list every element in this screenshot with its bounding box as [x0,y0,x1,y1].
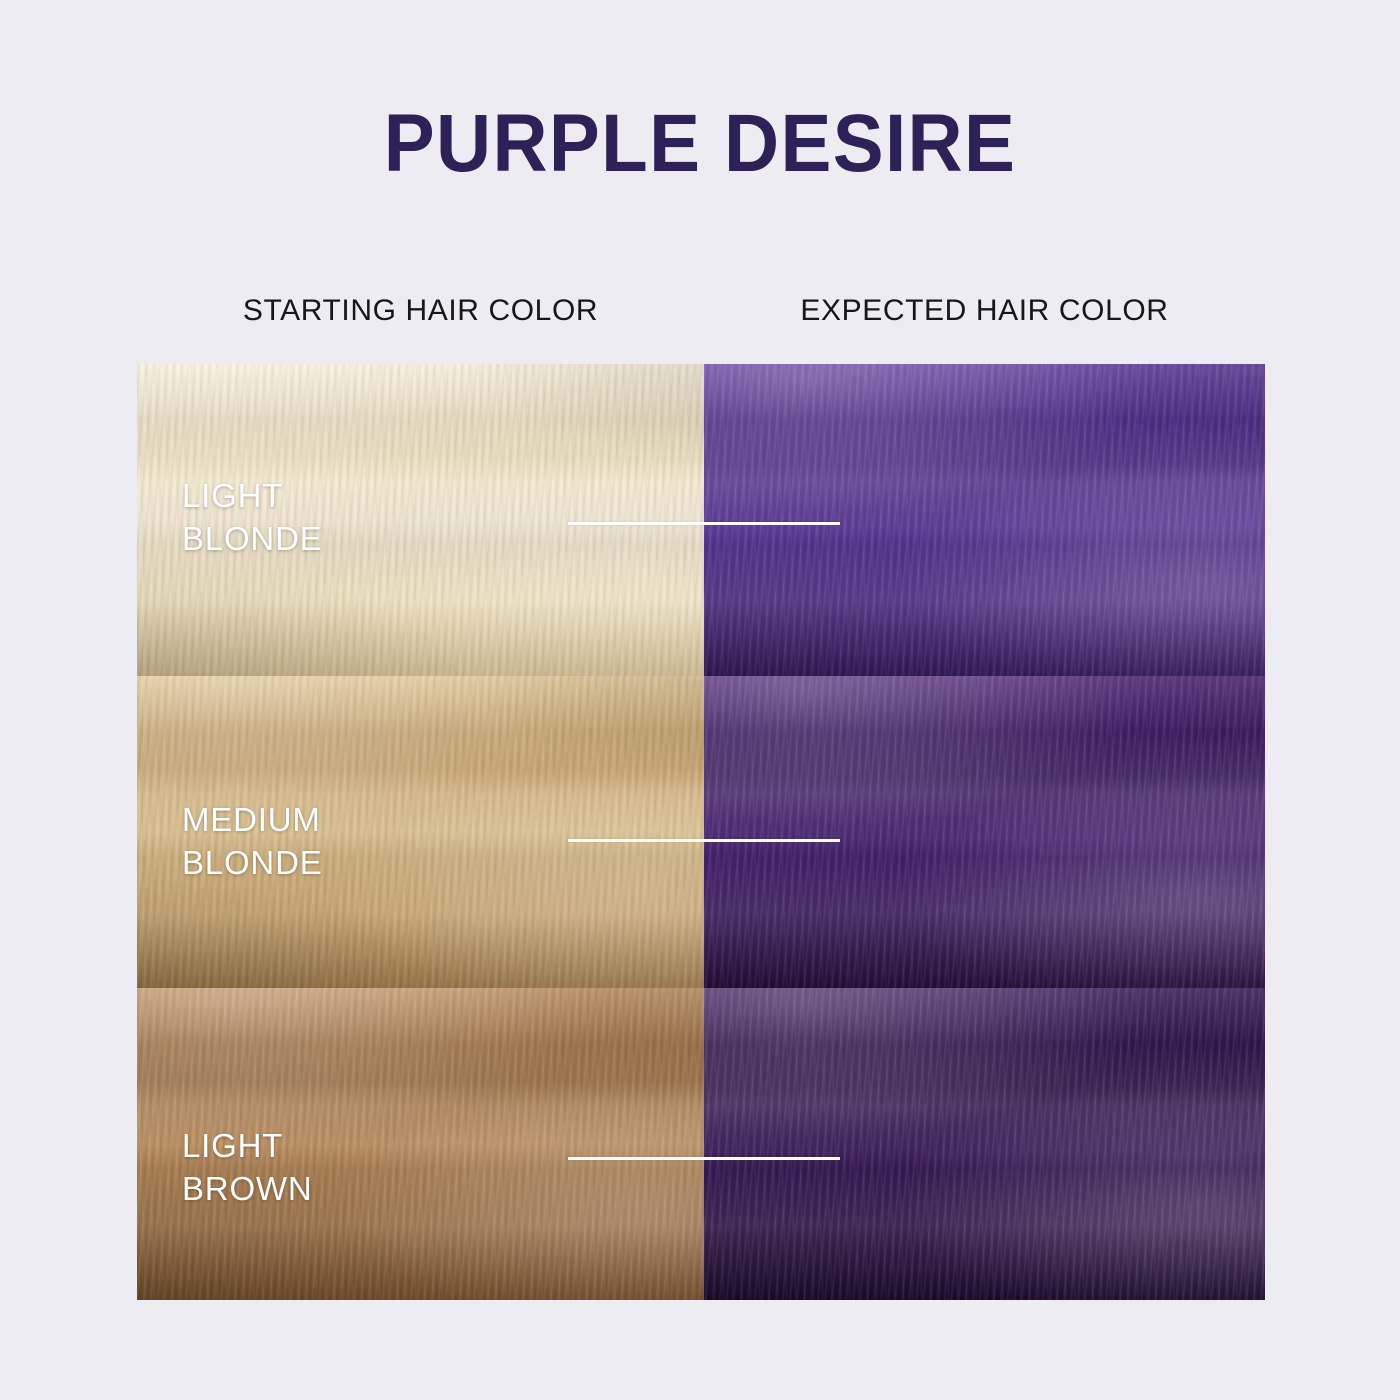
connector-line-light-blonde [568,522,840,525]
starting-swatch-light-blonde: LIGHT BLONDE [137,364,704,676]
expected-swatch-medium-blonde [704,676,1265,988]
swatch-label-line-2: BLONDE [182,517,323,560]
expected-swatch-light-brown [704,988,1265,1300]
connector-line-light-brown [568,1157,840,1160]
hair-sheen-texture [704,988,1265,1300]
hair-striation-texture [704,988,1265,1300]
hair-striation-texture-secondary [704,988,1265,1300]
hair-striation-texture [704,364,1265,676]
starting-swatch-light-brown: LIGHT BROWN [137,988,704,1300]
starting-swatch-label-light-brown: LIGHT BROWN [182,1124,313,1210]
swatch-label-line-1: LIGHT [182,474,323,517]
hair-striation-texture-secondary [704,364,1265,676]
hair-wave-shading [704,364,1265,676]
hair-sheen-texture [704,364,1265,676]
column-header-starting-hair-color: STARTING HAIR COLOR [137,292,704,330]
hair-wave-shading [704,676,1265,988]
hair-sheen-texture [704,676,1265,988]
page-title: PURPLE DESIRE [49,96,1351,192]
swatch-label-line-2: BROWN [182,1167,313,1210]
swatch-label-line-1: MEDIUM [182,798,323,841]
swatch-label-line-1: LIGHT [182,1124,313,1167]
expected-swatch-light-blonde [704,364,1265,676]
starting-swatch-label-medium-blonde: MEDIUM BLONDE [182,798,323,884]
connector-line-medium-blonde [568,839,840,842]
starting-swatch-medium-blonde: MEDIUM BLONDE [137,676,704,988]
hair-striation-texture-secondary [704,676,1265,988]
column-header-expected-hair-color: EXPECTED HAIR COLOR [704,292,1265,330]
swatch-label-line-2: BLONDE [182,841,323,884]
hair-striation-texture [704,676,1265,988]
hair-wave-shading [704,988,1265,1300]
starting-swatch-label-light-blonde: LIGHT BLONDE [182,474,323,560]
